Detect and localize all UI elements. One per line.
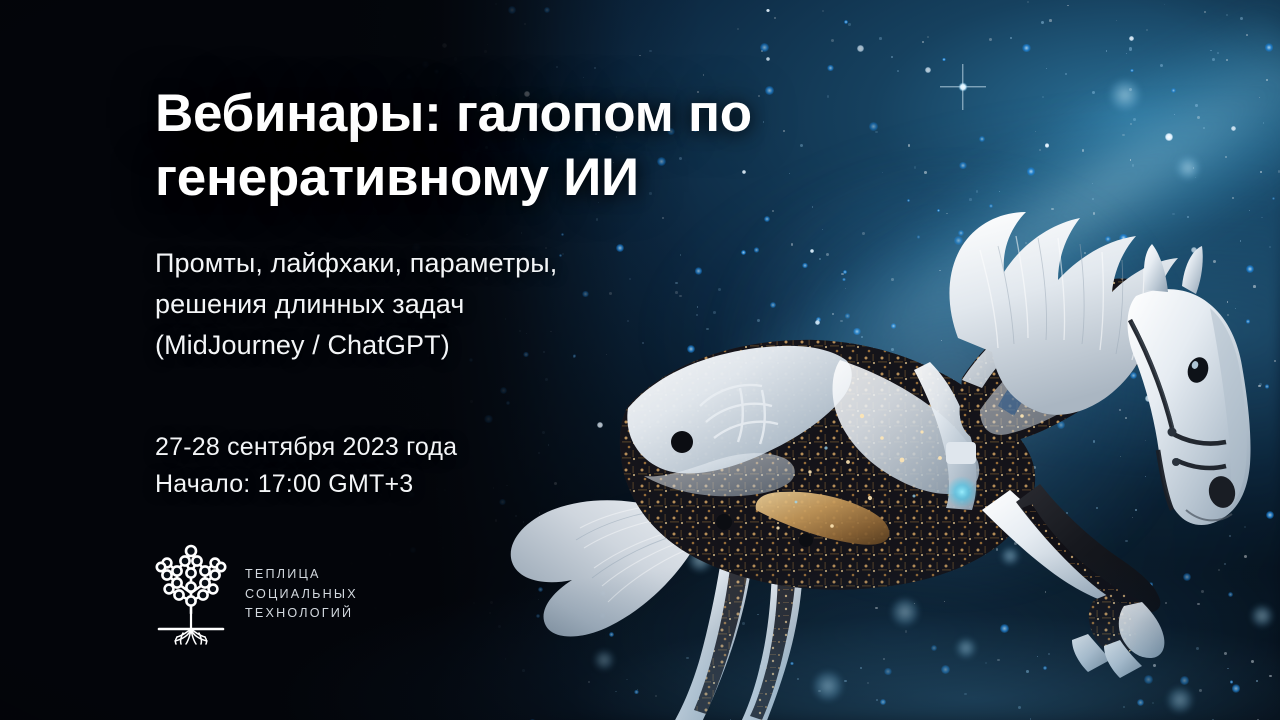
title-line-1: Вебинары: галопом по (155, 84, 752, 143)
page-title: Вебинары: галопом по генеративному ИИ (155, 82, 775, 210)
copy-block: Вебинары: галопом по генеративному ИИ Пр… (155, 0, 755, 720)
subtitle-line-2: решения длинных задач (155, 289, 464, 319)
subtitle: Промты, лайфхаки, параметры, решения дли… (155, 243, 755, 366)
organization-name: ТЕПЛИЦА СОЦИАЛЬНЫХ ТЕХНОЛОГИЙ (245, 543, 358, 624)
subtitle-line-3: (MidJourney / ChatGPT) (155, 330, 450, 360)
event-dates: 27-28 сентября 2023 года (155, 433, 457, 461)
poster-canvas: Вебинары: галопом по генеративному ИИ Пр… (0, 0, 1280, 720)
schedule-block: 27-28 сентября 2023 года Начало: 17:00 G… (155, 429, 715, 503)
title-line-2: генеративному ИИ (155, 148, 639, 207)
tree-of-nodes-icon (155, 543, 227, 645)
organization-logo: ТЕПЛИЦА СОЦИАЛЬНЫХ ТЕХНОЛОГИЙ (155, 543, 358, 645)
event-start-time: Начало: 17:00 GMT+3 (155, 470, 413, 498)
subtitle-line-1: Промты, лайфхаки, параметры, (155, 248, 557, 278)
